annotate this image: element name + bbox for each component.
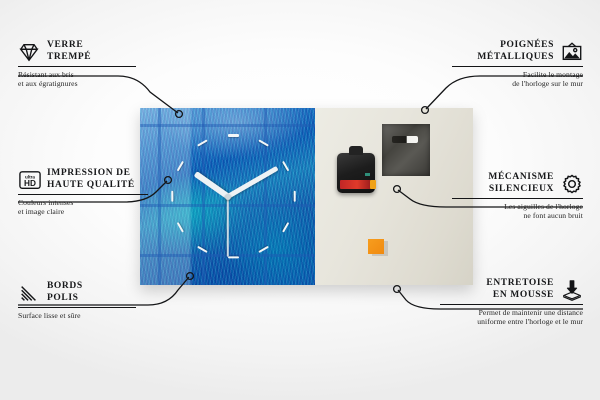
callout-header: VERRE TREMPÉ [18,40,148,63]
infographic-canvas: VERRE TREMPÉ Résistant aux bris et aux é… [0,0,600,400]
callout-entretoise-en-mousse: ENTRETOISE EN MOUSSE Permet de maintenir… [440,278,583,327]
callout-title: MÉCANISME SILENCIEUX [488,172,554,195]
clock-tick [171,191,173,202]
ultra-hd-icon: ultra HD [18,169,40,191]
product-photo [140,108,473,285]
callout-subtitle: Couleurs intenses et image claire [18,198,158,217]
callout-verre-trempe: VERRE TREMPÉ Résistant aux bris et aux é… [18,40,148,89]
clock-second-hand [227,196,229,256]
callout-rule [18,307,136,308]
callout-subtitle: Les aiguilles de l'horloge ne font aucun… [452,202,583,221]
press-down-foam-icon [561,279,583,301]
callout-poignees-metalliques: POIGNÉES MÉTALLIQUES Facilite le montage… [452,40,583,89]
face-gridline [158,108,161,285]
battery-terminal [370,180,376,189]
hanger-slot [392,136,418,143]
callout-header: POIGNÉES MÉTALLIQUES [452,40,583,63]
clock-tick [228,256,239,258]
gear-icon [561,173,583,195]
polished-edges-icon [18,282,40,304]
movement-label [365,173,370,176]
callout-subtitle: Résistant aux bris et aux égratignures [18,70,148,89]
callout-rule [452,66,583,67]
quartz-movement [337,153,375,193]
callout-header: ENTRETOISE EN MOUSSE [440,278,583,301]
battery [340,180,371,189]
picture-frame-hanger-icon [561,41,583,63]
callout-header: MÉCANISME SILENCIEUX [452,172,583,195]
callout-rule [18,66,136,67]
face-gridline [140,124,315,127]
face-gridline [202,108,205,285]
callout-title: POIGNÉES MÉTALLIQUES [477,40,554,63]
svg-text:HD: HD [24,178,36,187]
movement-hook [349,146,363,155]
clock-tick [293,191,295,202]
callout-title: VERRE TREMPÉ [47,40,91,63]
callout-subtitle: Permet de maintenir une distance uniform… [440,308,583,327]
callout-mecanisme-silencieux: MÉCANISME SILENCIEUX Les aiguilles de l'… [452,172,583,221]
clock-back-panel [315,108,473,285]
callout-impression-haute-qualite: ultra HD IMPRESSION DE HAUTE QUALITÉ Cou… [18,168,158,217]
callout-title: IMPRESSION DE HAUTE QUALITÉ [47,168,135,191]
callout-header: BORDS POLIS [18,281,148,304]
metal-hanger-plate [382,124,430,176]
callout-rule [18,194,148,195]
callout-subtitle: Surface lisse et sûre [18,311,148,321]
callout-header: ultra HD IMPRESSION DE HAUTE QUALITÉ [18,168,158,191]
callout-rule [452,198,583,199]
callout-bords-polis: BORDS POLIS Surface lisse et sûre [18,281,148,320]
diamond-icon [18,41,40,63]
foam-spacer [368,239,384,254]
callout-rule [440,304,583,305]
clock-hub [225,194,231,200]
callout-title: BORDS POLIS [47,281,83,304]
callout-title: ENTRETOISE EN MOUSSE [486,278,554,301]
face-gridline [264,108,267,285]
callout-subtitle: Facilite le montage de l'horloge sur le … [452,70,583,89]
